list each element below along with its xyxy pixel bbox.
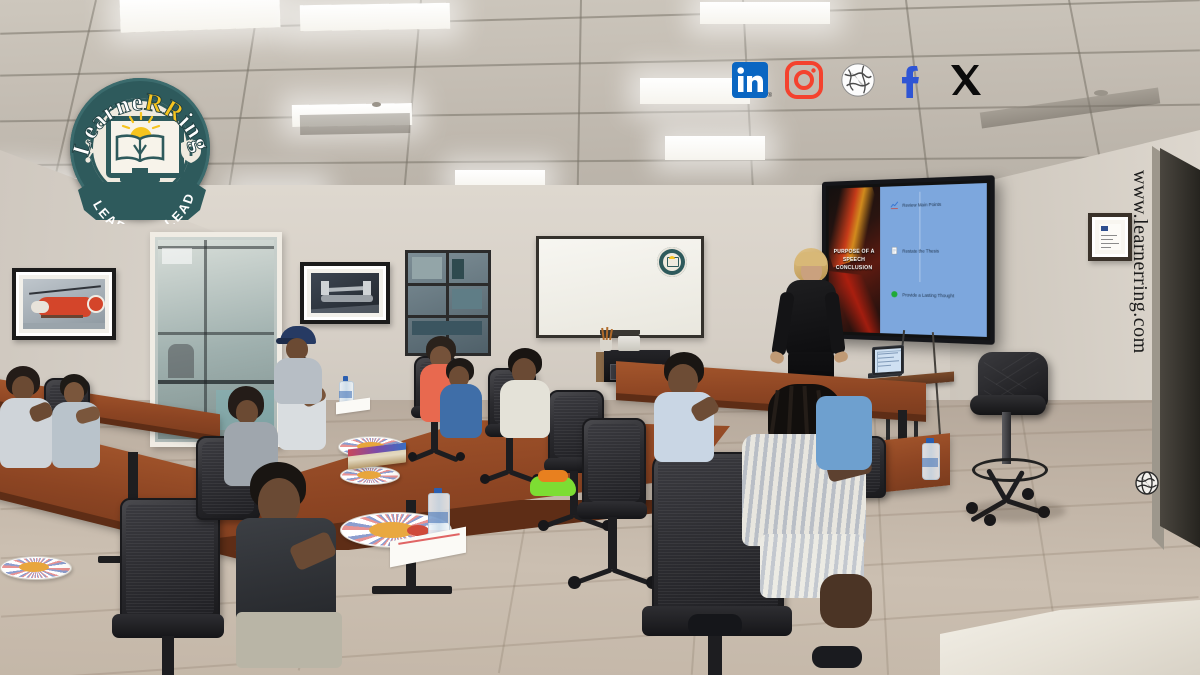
slide-content-panel: Review Main Points Restate the Thesis xyxy=(880,183,987,337)
tissue-box xyxy=(618,336,640,351)
website-url-watermark: www.learnerring.com xyxy=(1128,170,1168,490)
screenshot-root: PURPOSE OF A SPEECH CONCLUSION Review Ma… xyxy=(0,0,1200,675)
ceiling-light-panel xyxy=(119,0,280,33)
linkedin-icon[interactable]: ® xyxy=(730,60,770,100)
audience-member xyxy=(276,326,324,398)
slide-bullet-text: Provide a Lasting Thought xyxy=(902,292,954,298)
slide-bullet: Review Main Points xyxy=(890,200,941,210)
shoe xyxy=(688,614,742,636)
logo-word-1: Learne xyxy=(68,89,144,159)
audience-member xyxy=(52,374,104,474)
tv-screen: PURPOSE OF A SPEECH CONCLUSION Review Ma… xyxy=(829,183,987,337)
audience-member xyxy=(0,366,56,476)
aircraft-photo xyxy=(300,262,390,324)
drafting-chair-footring xyxy=(972,458,1048,482)
svg-text:LearneRRing: LearneRRing xyxy=(68,89,216,159)
sneaker xyxy=(538,470,568,482)
certificate-frame xyxy=(1088,213,1132,261)
logo-tagline-banner: LEARN TO LEAD xyxy=(76,180,208,224)
green-circle-icon xyxy=(890,290,898,298)
x-twitter-icon[interactable] xyxy=(946,60,986,100)
caster-wheel xyxy=(1022,488,1034,500)
paper-plate xyxy=(0,556,72,580)
globe-icon[interactable] xyxy=(838,60,878,100)
learnerring-logo: LearneRRing LEARN TO LEAD xyxy=(62,72,222,232)
slide-bullet: Provide a Lasting Thought xyxy=(890,290,954,299)
whiteboard xyxy=(536,236,704,338)
smoke-detector-icon xyxy=(1094,90,1108,96)
website-url-text: www.learnerring.com xyxy=(1128,170,1151,354)
smoke-detector-icon xyxy=(372,102,381,107)
laptop xyxy=(872,345,904,376)
ceiling-light-panel xyxy=(700,2,830,24)
whiteboard-logo-sticker xyxy=(657,247,687,277)
drafting-chair-cylinder xyxy=(1002,412,1011,464)
chart-line-icon xyxy=(890,201,898,210)
registered-mark: ® xyxy=(768,93,772,99)
ceiling-air-vent xyxy=(300,113,410,135)
document-icon xyxy=(890,246,898,254)
ceiling-light-panel xyxy=(300,3,450,32)
shoe xyxy=(812,646,862,668)
slide-bullet-text: Restate the Thesis xyxy=(902,248,939,253)
helicopter-photo xyxy=(12,268,116,340)
social-icon-row: ® xyxy=(730,52,998,108)
presenter-hair-fringe xyxy=(795,252,827,266)
slide-bullet: Restate the Thesis xyxy=(890,246,939,255)
ceiling-air-vent xyxy=(980,88,1160,129)
water-bottle xyxy=(922,438,938,480)
audience-member xyxy=(816,396,876,476)
instagram-icon[interactable] xyxy=(784,60,824,100)
table-leg xyxy=(372,586,452,594)
audience-member xyxy=(440,358,486,438)
audience-member xyxy=(236,462,346,662)
globe-icon xyxy=(1134,470,1160,496)
audience-member xyxy=(500,348,554,438)
slide-bullet-text: Review Main Points xyxy=(902,201,941,207)
ceiling-light-panel xyxy=(665,136,765,160)
facebook-icon[interactable] xyxy=(892,60,932,100)
laptop-screen xyxy=(875,348,901,373)
audience-member xyxy=(654,352,716,462)
